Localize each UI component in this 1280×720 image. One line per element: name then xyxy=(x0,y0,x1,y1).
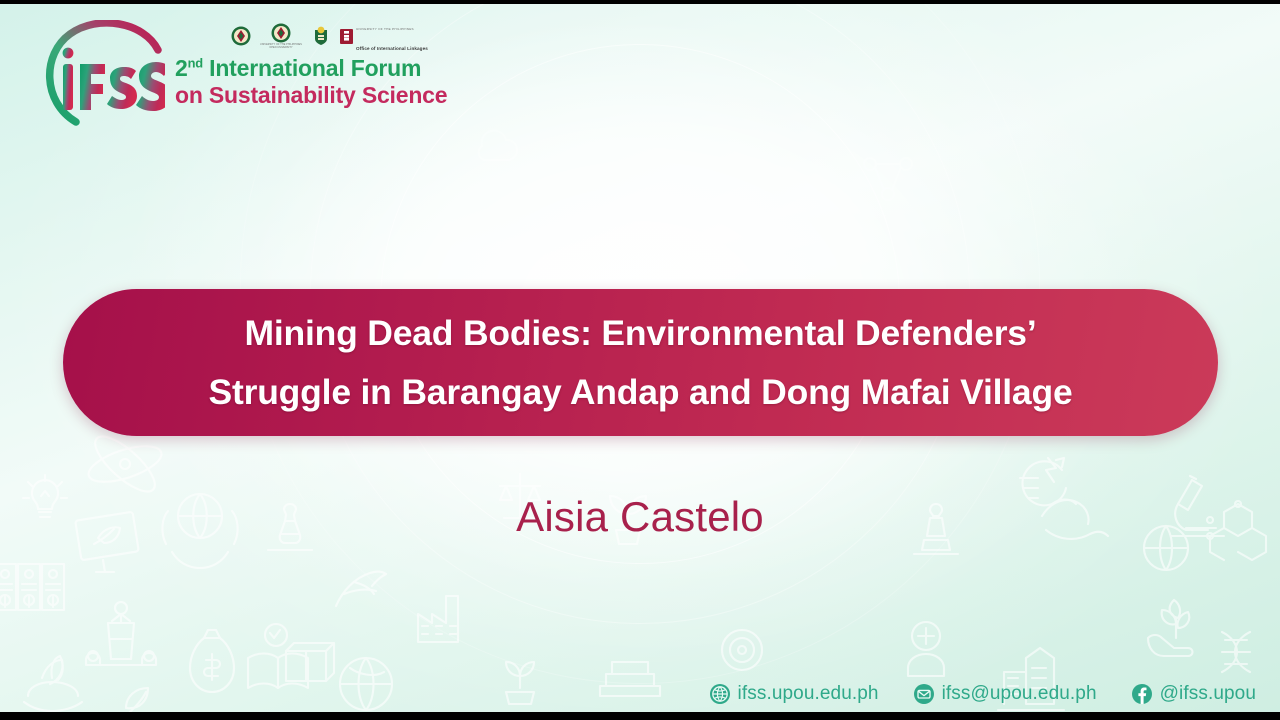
money-bag-icon xyxy=(190,630,234,692)
slide-title-line2: Struggle in Barangay Andap and Dong Mafa… xyxy=(208,372,1072,412)
up-office-international-linkages-logo: UNIVERSITY OF THE PHILIPPINES Office of … xyxy=(340,16,428,56)
oil-line2: Office of International Linkages xyxy=(356,46,428,51)
partner-logo-caption: UNIVERSITY OF THE PHILIPPINESOPEN UNIVER… xyxy=(260,44,302,50)
partner-logo-item xyxy=(231,26,251,46)
network-icon xyxy=(864,158,912,200)
podium-icon xyxy=(86,602,156,665)
slide-title-line1: Mining Dead Bodies: Environmental Defend… xyxy=(244,313,1036,353)
forum-ordinal-number: 2 xyxy=(175,55,188,81)
letterbox-top-bar xyxy=(0,0,1280,4)
university-seal-icon xyxy=(231,26,251,46)
leaf-sprout-icon xyxy=(126,688,148,712)
slide-title: Mining Dead Bodies: Environmental Defend… xyxy=(182,304,1098,422)
facebook-icon xyxy=(1131,683,1153,705)
footer-contact-bar: ifss.upou.edu.ph ifss@upou.edu.ph @ifss.… xyxy=(709,677,1256,711)
bird-icon xyxy=(336,572,386,606)
cloud-data-icon xyxy=(479,131,517,160)
seedling-icon xyxy=(506,662,534,704)
target-icon xyxy=(722,630,762,670)
ifss-logo xyxy=(40,20,165,132)
harvest-icon xyxy=(20,656,84,712)
presenter-name: Aisia Castelo xyxy=(0,493,1280,541)
letterbox-bottom-bar xyxy=(0,712,1280,720)
bookshelf-icon xyxy=(0,564,64,610)
contact-website-label: ifss.upou.edu.ph xyxy=(738,683,879,705)
forum-title-line2: on Sustainability Science xyxy=(175,82,447,109)
forum-title-line1: 2nd International Forum xyxy=(175,55,447,82)
partner-logo-item: UNIVERSITY OF THE PHILIPPINESOPEN UNIVER… xyxy=(260,23,302,50)
person-box-icon xyxy=(265,624,334,681)
contact-facebook[interactable]: @ifss.upou xyxy=(1131,683,1256,705)
contact-facebook-label: @ifss.upou xyxy=(1160,683,1256,705)
plant-hand-icon xyxy=(1148,600,1193,656)
book-open-icon xyxy=(248,654,308,689)
dna-icon xyxy=(1222,632,1250,672)
header-branding: UNIVERSITY OF THE PHILIPPINESOPEN UNIVER… xyxy=(40,20,447,132)
contact-email-label: ifss@upou.edu.ph xyxy=(942,683,1097,705)
partner-logo-item xyxy=(311,26,331,46)
contact-website[interactable]: ifss.upou.edu.ph xyxy=(709,683,879,705)
envelope-icon xyxy=(913,683,935,705)
partner-logos: UNIVERSITY OF THE PHILIPPINESOPEN UNIVER… xyxy=(231,22,447,50)
crest-icon xyxy=(311,26,331,46)
contact-email[interactable]: ifss@upou.edu.ph xyxy=(913,683,1097,705)
forum-line1-rest: International Forum xyxy=(203,55,421,81)
title-banner: Mining Dead Bodies: Environmental Defend… xyxy=(63,289,1218,436)
slide-canvas: UNIVERSITY OF THE PHILIPPINESOPEN UNIVER… xyxy=(0,4,1280,712)
university-seal-icon xyxy=(271,23,291,43)
forum-ordinal-suffix: nd xyxy=(188,55,203,70)
up-shield-icon xyxy=(340,29,353,44)
globe-icon xyxy=(709,683,731,705)
factory-icon xyxy=(418,596,458,642)
forum-title: 2nd International Forum on Sustainabilit… xyxy=(175,55,447,108)
gear-person-icon xyxy=(908,622,944,676)
globe-recycle-icon xyxy=(340,658,392,710)
forum-title-block: UNIVERSITY OF THE PHILIPPINESOPEN UNIVER… xyxy=(175,20,447,108)
book-stack-icon xyxy=(600,662,660,696)
oil-line1: UNIVERSITY OF THE PHILIPPINES xyxy=(356,27,414,31)
atom-icon xyxy=(85,428,166,500)
